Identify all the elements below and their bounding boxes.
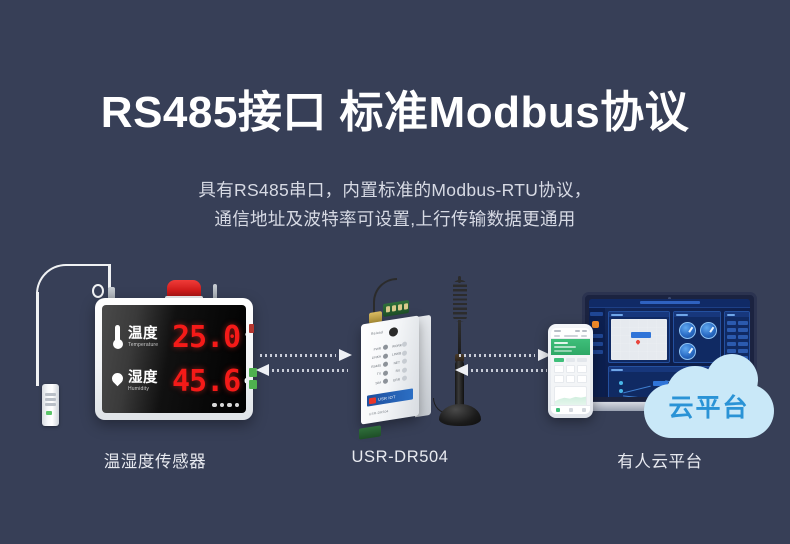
map-callout xyxy=(631,332,651,338)
antenna-coil-icon xyxy=(453,280,467,322)
led-indicator xyxy=(383,361,388,367)
led-indicator xyxy=(402,341,407,347)
phone-metric-cell xyxy=(566,375,576,383)
led-label: RS485 xyxy=(368,363,381,369)
humidity-label-cn: 湿度 xyxy=(128,371,170,386)
subtitle-line-1: 具有RS485串口，内置标准的Modbus-RTU协议， xyxy=(0,176,790,205)
probe-vent-icon xyxy=(45,403,56,406)
dataflow-gateway-cloud xyxy=(455,348,551,382)
phone-tabbar[interactable] xyxy=(551,405,590,414)
sensor-display-screen: 温度 Temperature 25.0 ℃ 湿度 Humidity 45.6 xyxy=(102,305,246,413)
thermometer-icon xyxy=(111,323,124,353)
usr-logo-icon xyxy=(369,397,376,404)
phone-tab[interactable] xyxy=(566,358,576,362)
led-label: PWR xyxy=(368,346,381,352)
sensor-indicator-leds xyxy=(212,403,239,408)
antenna-magnetic-base xyxy=(439,404,481,426)
led-label: NET xyxy=(392,360,400,365)
led-label: WORK xyxy=(392,343,400,348)
phone-metric-grid xyxy=(551,365,590,383)
humidity-value: 45.6 xyxy=(172,367,240,397)
temperature-label-block: 温度 Temperature xyxy=(128,327,170,349)
tabbar-profile-icon[interactable] xyxy=(582,408,586,412)
reload-label: Reload xyxy=(371,330,383,336)
reload-button[interactable] xyxy=(389,327,398,337)
temperature-label-en: Temperature xyxy=(128,342,170,349)
sensor-enclosure: 温度 Temperature 25.0 ℃ 湿度 Humidity 45.6 xyxy=(95,298,253,420)
led-indicator xyxy=(383,378,388,384)
caption-sensor: 温湿度传感器 xyxy=(55,448,255,472)
led-indicator xyxy=(383,353,388,359)
humidity-label-en: Humidity xyxy=(128,386,170,393)
gauge-widget xyxy=(679,322,696,339)
subtitle-line-2: 通信地址及波特率可设置,上行传输数据更通用 xyxy=(0,205,790,234)
cloud-badge-label: 云平台 xyxy=(644,388,774,424)
gateway-front-face: Reload PWR WORK LINKA LINKB RS485 NET TX xyxy=(361,315,419,424)
gauge-widget xyxy=(700,322,717,339)
gateway-terminal-bottom xyxy=(359,425,381,439)
temperature-reading-row: 温度 Temperature 25.0 ℃ xyxy=(111,323,246,353)
led-label: RX xyxy=(392,368,400,373)
page-title: RS485接口 标准Modbus协议 xyxy=(0,88,790,137)
caption-cloud: 有人云平台 xyxy=(560,448,760,472)
cable-drop xyxy=(36,292,39,386)
led-indicator xyxy=(383,370,388,376)
water-drop-icon xyxy=(111,367,124,397)
gateway-model-text: USR-DR504 xyxy=(369,409,389,416)
led-label: ERR xyxy=(392,377,400,382)
tabbar-data-icon[interactable] xyxy=(569,408,573,412)
sensor-side-button xyxy=(249,324,254,333)
phone-metric-cell xyxy=(554,375,564,383)
led-indicator xyxy=(402,367,407,373)
humidity-unit: % xyxy=(244,375,246,390)
phone-tab-strip[interactable] xyxy=(551,355,590,365)
phone-tab[interactable] xyxy=(577,358,587,362)
led-indicator xyxy=(402,350,407,356)
dataflow-arrow-right xyxy=(455,348,551,363)
phone-metric-cell xyxy=(577,375,587,383)
phone-tab[interactable] xyxy=(554,358,564,362)
dashboard-topbar xyxy=(589,299,750,308)
caption-gateway: USR-DR504 xyxy=(300,448,500,467)
dataflow-arrow-left xyxy=(455,363,551,378)
phone-metric-cell xyxy=(566,365,576,373)
phone-hero-card xyxy=(551,339,590,355)
probe-vent-icon xyxy=(45,393,56,396)
tabbar-home-icon[interactable] xyxy=(556,408,560,412)
led-indicator xyxy=(402,375,407,381)
temperature-label-cn: 温度 xyxy=(128,327,170,342)
gateway-brand-text: USR IOT xyxy=(378,394,396,402)
cable-riser xyxy=(108,264,111,288)
humidity-label-block: 湿度 Humidity xyxy=(128,371,170,393)
topology-node xyxy=(619,389,623,393)
dataflow-sensor-gateway xyxy=(256,348,352,382)
cloud-platform-group: 云平台 xyxy=(540,268,790,448)
dataflow-arrow-right xyxy=(256,348,352,363)
gateway-terminal-top xyxy=(383,300,409,317)
sidebar-icon xyxy=(592,321,599,328)
led-indicator xyxy=(383,344,388,350)
topology-node xyxy=(619,381,623,385)
temperature-humidity-sensor: 温度 Temperature 25.0 ℃ 湿度 Humidity 45.6 xyxy=(30,262,280,442)
led-label: TX xyxy=(368,371,381,377)
gateway-led-panel: PWR WORK LINKA LINKB RS485 NET TX RX xyxy=(368,341,409,386)
arrow-left-icon xyxy=(256,364,269,376)
smartphone-device xyxy=(548,324,593,418)
led-label: LINKB xyxy=(392,351,400,356)
cloud-badge: 云平台 xyxy=(644,354,774,438)
led-label: SIM xyxy=(368,380,381,386)
map-pin-icon xyxy=(635,339,641,345)
probe-vent-icon xyxy=(45,398,56,401)
arrow-left-icon xyxy=(455,364,468,376)
probe-status-led xyxy=(46,411,52,415)
dashboard-title-bar xyxy=(640,301,700,304)
dataflow-arrow-left xyxy=(256,363,352,378)
led-label: LINKA xyxy=(368,354,381,360)
led-indicator xyxy=(402,358,407,364)
humidity-reading-row: 湿度 Humidity 45.6 % xyxy=(111,367,246,397)
temperature-unit: ℃ xyxy=(244,330,246,346)
probe-sensor-head xyxy=(42,384,59,426)
infographic-canvas: RS485接口 标准Modbus协议 具有RS485串口，内置标准的Modbus… xyxy=(0,0,790,544)
phone-metric-cell xyxy=(554,365,564,373)
temperature-value: 25.0 xyxy=(172,323,240,353)
page-subtitle: 具有RS485串口，内置标准的Modbus-RTU协议， 通信地址及波特率可设置… xyxy=(0,176,790,234)
cable-strain-relief xyxy=(92,284,104,298)
phone-screen xyxy=(551,328,590,414)
gateway-brand-label: USR IOT xyxy=(367,388,413,406)
gateway-enclosure: Reload PWR WORK LINKA LINKB RS485 NET TX xyxy=(361,315,419,424)
phone-metric-cell xyxy=(577,365,587,373)
